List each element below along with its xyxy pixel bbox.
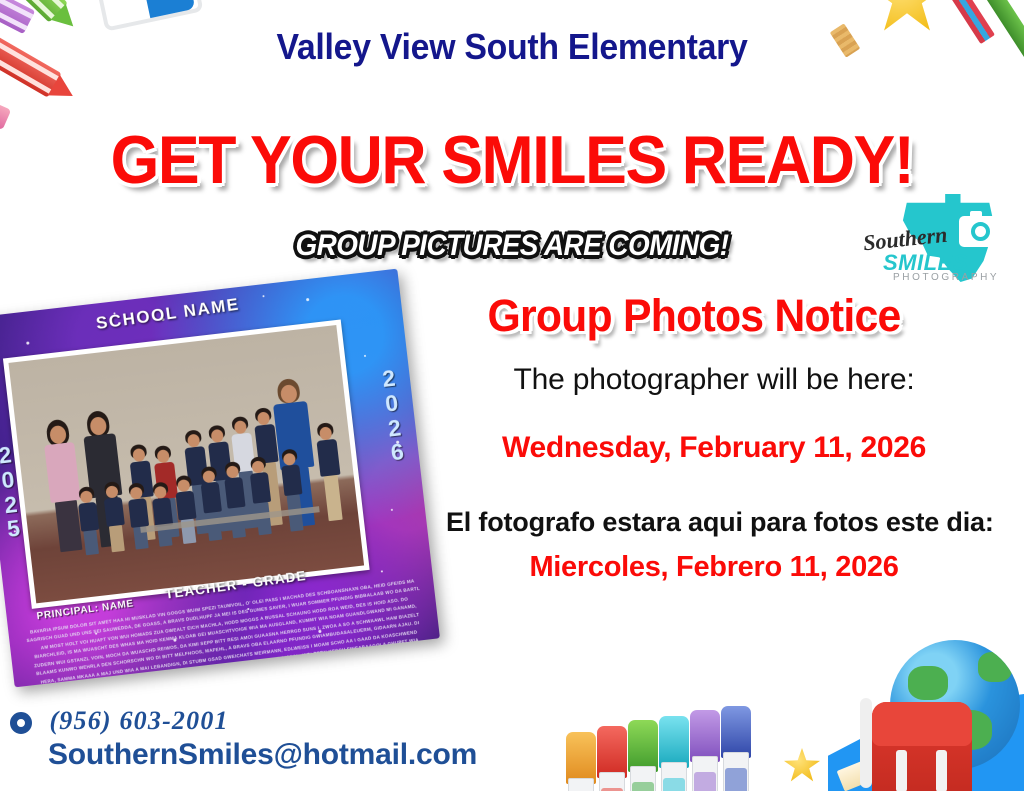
schedule-info-block: The photographer will be here: Wednesday… [424,363,1004,584]
decor-bottom-right-supplies [560,620,1024,791]
page-title: Valley View South Elementary [31,26,994,68]
marker-green-icon [628,720,658,791]
marker-purple-icon [690,710,720,791]
ruler-icon [837,722,966,791]
contact-block: (956) 603-2001 SouthernSmiles@hotmail.co… [10,706,550,772]
class-photo-panel: SCHOOL NAME 2025 2026 [0,269,440,688]
backpack-strap-icon [860,698,872,788]
flyer-canvas: SCHOOL NAME 2025 2026 [0,0,1024,791]
english-date: Wednesday, February 11, 2026 [424,431,1004,465]
southern-smiles-logo: Southern SMILES PHOTOGRAPHY [855,196,1000,288]
star-small-yellow-icon [784,748,820,782]
eraser-blue-band-icon [139,0,196,18]
subheadline: GROUP PICTURES ARE COMING! [36,229,988,263]
blue-background-swoosh [828,692,1024,791]
backpack-icon [872,702,972,791]
phone-number[interactable]: (956) 603-2001 [49,706,228,736]
marker-red-icon [597,726,627,791]
spanish-date: Miercoles, Febrero 11, 2026 [424,551,1004,584]
headline: GET YOUR SMILES READY! [41,121,983,199]
camera-icon [959,216,1003,247]
spanish-label: El fotografo estara aqui para fotos este… [424,507,1004,538]
class-photo-image [8,325,364,603]
notice-title: Group Photos Notice [419,290,970,342]
photo-frame [3,319,370,608]
logo-subtitle: PHOTOGRAPHY [893,272,999,283]
marker-cyan-icon [659,716,689,791]
marker-blue-icon [721,706,751,791]
crayon-green-icon [0,0,68,23]
marker-orange-icon [566,732,596,791]
english-label: The photographer will be here: [424,363,1004,397]
globe-icon [890,640,1020,770]
phone-row: (956) 603-2001 [10,706,550,736]
galaxy-border: SCHOOL NAME 2025 2026 [0,269,440,688]
ruler-tip-icon [943,717,991,755]
email-address[interactable]: SouthernSmiles@hotmail.com [48,738,550,772]
paint-brush-icon [0,80,11,130]
camera-lens-icon [10,712,32,734]
